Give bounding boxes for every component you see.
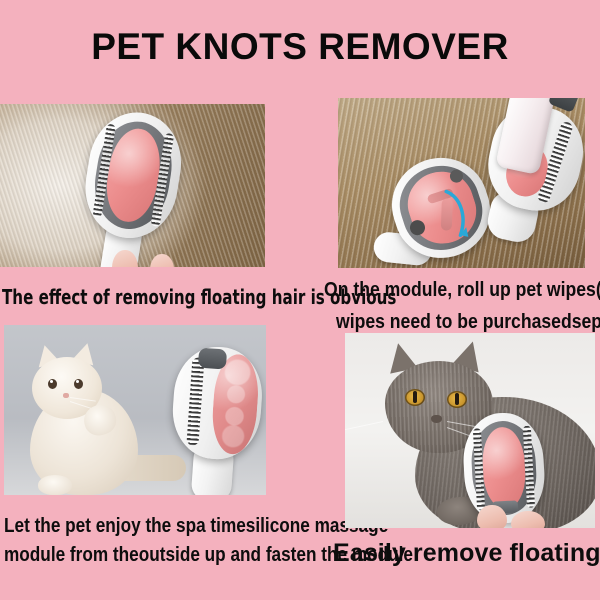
- cat-eye-left: [48, 379, 57, 389]
- scene-module-and-wipe: [338, 98, 585, 268]
- module-hinge: [198, 348, 227, 370]
- photo-panel-top-right: [338, 98, 585, 268]
- cat-front-paw: [38, 475, 72, 495]
- human-finger: [477, 505, 507, 528]
- page-title: PET KNOTS REMOVER: [0, 27, 600, 67]
- photo-panel-bottom-right: [345, 333, 595, 528]
- caption-bottom-right: Easily remove floating hair: [333, 539, 600, 567]
- product-infographic: PET KNOTS REMOVER The effect of removing…: [0, 0, 600, 600]
- scene-brush-on-fur: [0, 104, 265, 267]
- cat-eye-right: [74, 379, 83, 389]
- photo-panel-bottom-left: [4, 325, 266, 495]
- scene-grey-cat-groomed: [345, 333, 595, 528]
- cat-nose: [431, 415, 442, 423]
- caption-top-right: On the module, roll up pet wipes(wet wip…: [324, 274, 600, 338]
- photo-panel-top-left: [0, 104, 265, 267]
- cat-eye-right: [447, 391, 467, 408]
- cat-eye-left: [405, 389, 425, 406]
- caption-line-1: Let the pet enjoy the spa timesilicone m…: [4, 512, 279, 541]
- scene-cat-and-brush: [4, 325, 266, 495]
- caption-bottom-left: Let the pet enjoy the spa timesilicone m…: [4, 512, 324, 570]
- caption-line-2: module from theoutside up and fasten the…: [4, 541, 279, 570]
- caption-line-1: On the module, roll up pet wipes(wet: [324, 274, 588, 306]
- pet-brush: [167, 344, 265, 495]
- white-cat: [12, 335, 172, 495]
- pet-brush: [461, 411, 549, 528]
- cat-nose: [63, 393, 69, 398]
